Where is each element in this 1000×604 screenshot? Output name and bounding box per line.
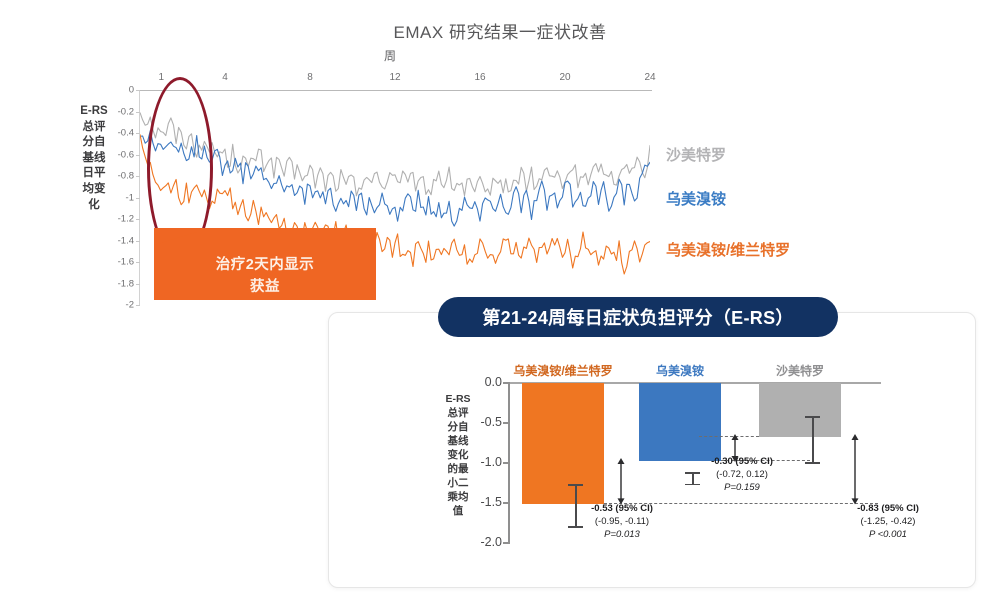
stat-pvalue: P <0.001 — [857, 528, 919, 541]
y-tick-label: -1.8 — [112, 278, 134, 289]
error-bar-1 — [692, 472, 694, 483]
stat-ci: (-1.25, -0.42) — [857, 515, 919, 528]
legend-label-umeclidinium-vilanterol: 乌美溴铵/维兰特罗 — [666, 239, 790, 260]
y-tick-mark — [136, 305, 140, 306]
stat-pvalue: P=0.013 — [591, 528, 653, 541]
y-label-row: 均变 — [76, 182, 112, 198]
y-tick-label: -0.4 — [112, 128, 134, 139]
bar-1[interactable] — [639, 383, 721, 461]
stat-ci: (-0.72, 0.12) — [711, 468, 773, 481]
error-bar-2 — [812, 416, 814, 462]
y-tick-label: -0.6 — [112, 149, 134, 160]
error-cap-0-1 — [568, 526, 583, 528]
bar-y-tick-mark — [503, 542, 509, 544]
bar-y-tick-label: -2.0 — [466, 535, 502, 549]
legend-label-salmeterol: 沙美特罗 — [666, 144, 726, 165]
callout-text: 治疗2天内显示 获益 — [154, 254, 376, 298]
y-tick-label: -1.6 — [112, 257, 134, 268]
bar-category-label-1: 乌美溴铵 — [656, 362, 704, 379]
x-tick-label: 12 — [389, 72, 400, 83]
line-series-0 — [140, 113, 650, 196]
inset-banner: 第21-24周每日症状负担评分（E-RS） — [438, 297, 838, 337]
x-tick-label: 4 — [222, 72, 228, 83]
stat-block-1: -0.30 (95% CI)(-0.72, 0.12)P=0.159 — [711, 455, 773, 494]
bar-category-label-2: 沙美特罗 — [776, 362, 824, 379]
error-cap-1-0 — [685, 472, 700, 474]
legend-label-umeclidinium: 乌美溴铵 — [666, 188, 726, 209]
top-chart-y-axis-label: E-RS 总评 分自 基线 日平 均变 化 — [76, 104, 112, 213]
y-label-row: 化 — [76, 198, 112, 214]
y-tick-label: 0 — [112, 85, 134, 96]
y-label-row: 总评 — [76, 120, 112, 136]
y-label-row: 日平 — [76, 166, 112, 182]
stat-block-2: -0.83 (95% CI)(-1.25, -0.42)P <0.001 — [857, 502, 919, 541]
bar-y-label-row: 小二 — [440, 476, 476, 490]
y-label-row: 分自 — [76, 135, 112, 151]
callout-line-1: 治疗2天内显示 — [216, 257, 315, 273]
comparison-arrow-0 — [614, 458, 628, 504]
bar-y-tick-mark — [503, 462, 509, 464]
bar-y-tick-label: 0.0 — [466, 375, 502, 389]
x-tick-label: 16 — [474, 72, 485, 83]
slide-canvas: EMAX 研究结果一症状改善 周 E-RS 总评 分自 基线 日平 均变 化 1… — [0, 0, 1000, 604]
stat-estimate: -0.30 (95% CI) — [711, 455, 773, 468]
stat-estimate: -0.53 (95% CI) — [591, 502, 653, 515]
bar-0[interactable] — [522, 383, 604, 504]
error-bar-0 — [575, 484, 577, 526]
bar-y-label-row: E-RS — [440, 392, 476, 406]
x-tick-label: 24 — [644, 72, 655, 83]
top-line-chart: E-RS 总评 分自 基线 日平 均变 化 14812162024 0-0.2-… — [0, 0, 1000, 320]
stat-ci: (-0.95, -0.11) — [591, 515, 653, 528]
bar-y-tick-label: -1.0 — [466, 455, 502, 469]
y-tick-label: -1 — [112, 192, 134, 203]
x-tick-label: 1 — [158, 72, 164, 83]
y-tick-label: -0.8 — [112, 171, 134, 182]
bar-y-tick-label: -1.5 — [466, 495, 502, 509]
bar-y-tick-mark — [503, 382, 509, 384]
bar-2[interactable] — [759, 383, 841, 437]
error-cap-1-1 — [685, 484, 700, 486]
y-tick-label: -1.2 — [112, 214, 134, 225]
comparison-arrow-2 — [848, 434, 862, 504]
inset-banner-title: 第21-24周每日症状负担评分（E-RS） — [482, 304, 793, 330]
y-tick-label: -2 — [112, 300, 134, 311]
y-tick-label: -0.2 — [112, 106, 134, 117]
bar-y-tick-mark — [503, 502, 509, 504]
benefit-callout: 治疗2天内显示 获益 — [154, 228, 376, 300]
bar-y-tick-label: -0.5 — [466, 415, 502, 429]
error-cap-0-0 — [568, 484, 583, 486]
callout-line-2: 获益 — [250, 279, 280, 295]
line-series-1 — [140, 131, 650, 227]
x-tick-label: 8 — [307, 72, 313, 83]
stat-pvalue: P=0.159 — [711, 481, 773, 494]
bar-y-label-row: 基线 — [440, 434, 476, 448]
stat-estimate: -0.83 (95% CI) — [857, 502, 919, 515]
y-label-row: E-RS — [76, 104, 112, 120]
error-cap-2-0 — [805, 416, 820, 418]
error-cap-2-1 — [805, 462, 820, 464]
x-tick-label: 20 — [559, 72, 570, 83]
stat-block-0: -0.53 (95% CI)(-0.95, -0.11)P=0.013 — [591, 502, 653, 541]
y-label-row: 基线 — [76, 151, 112, 167]
bar-y-tick-mark — [503, 422, 509, 424]
y-tick-label: -1.4 — [112, 235, 134, 246]
bar-category-label-0: 乌美溴铵/维兰特罗 — [513, 362, 612, 379]
